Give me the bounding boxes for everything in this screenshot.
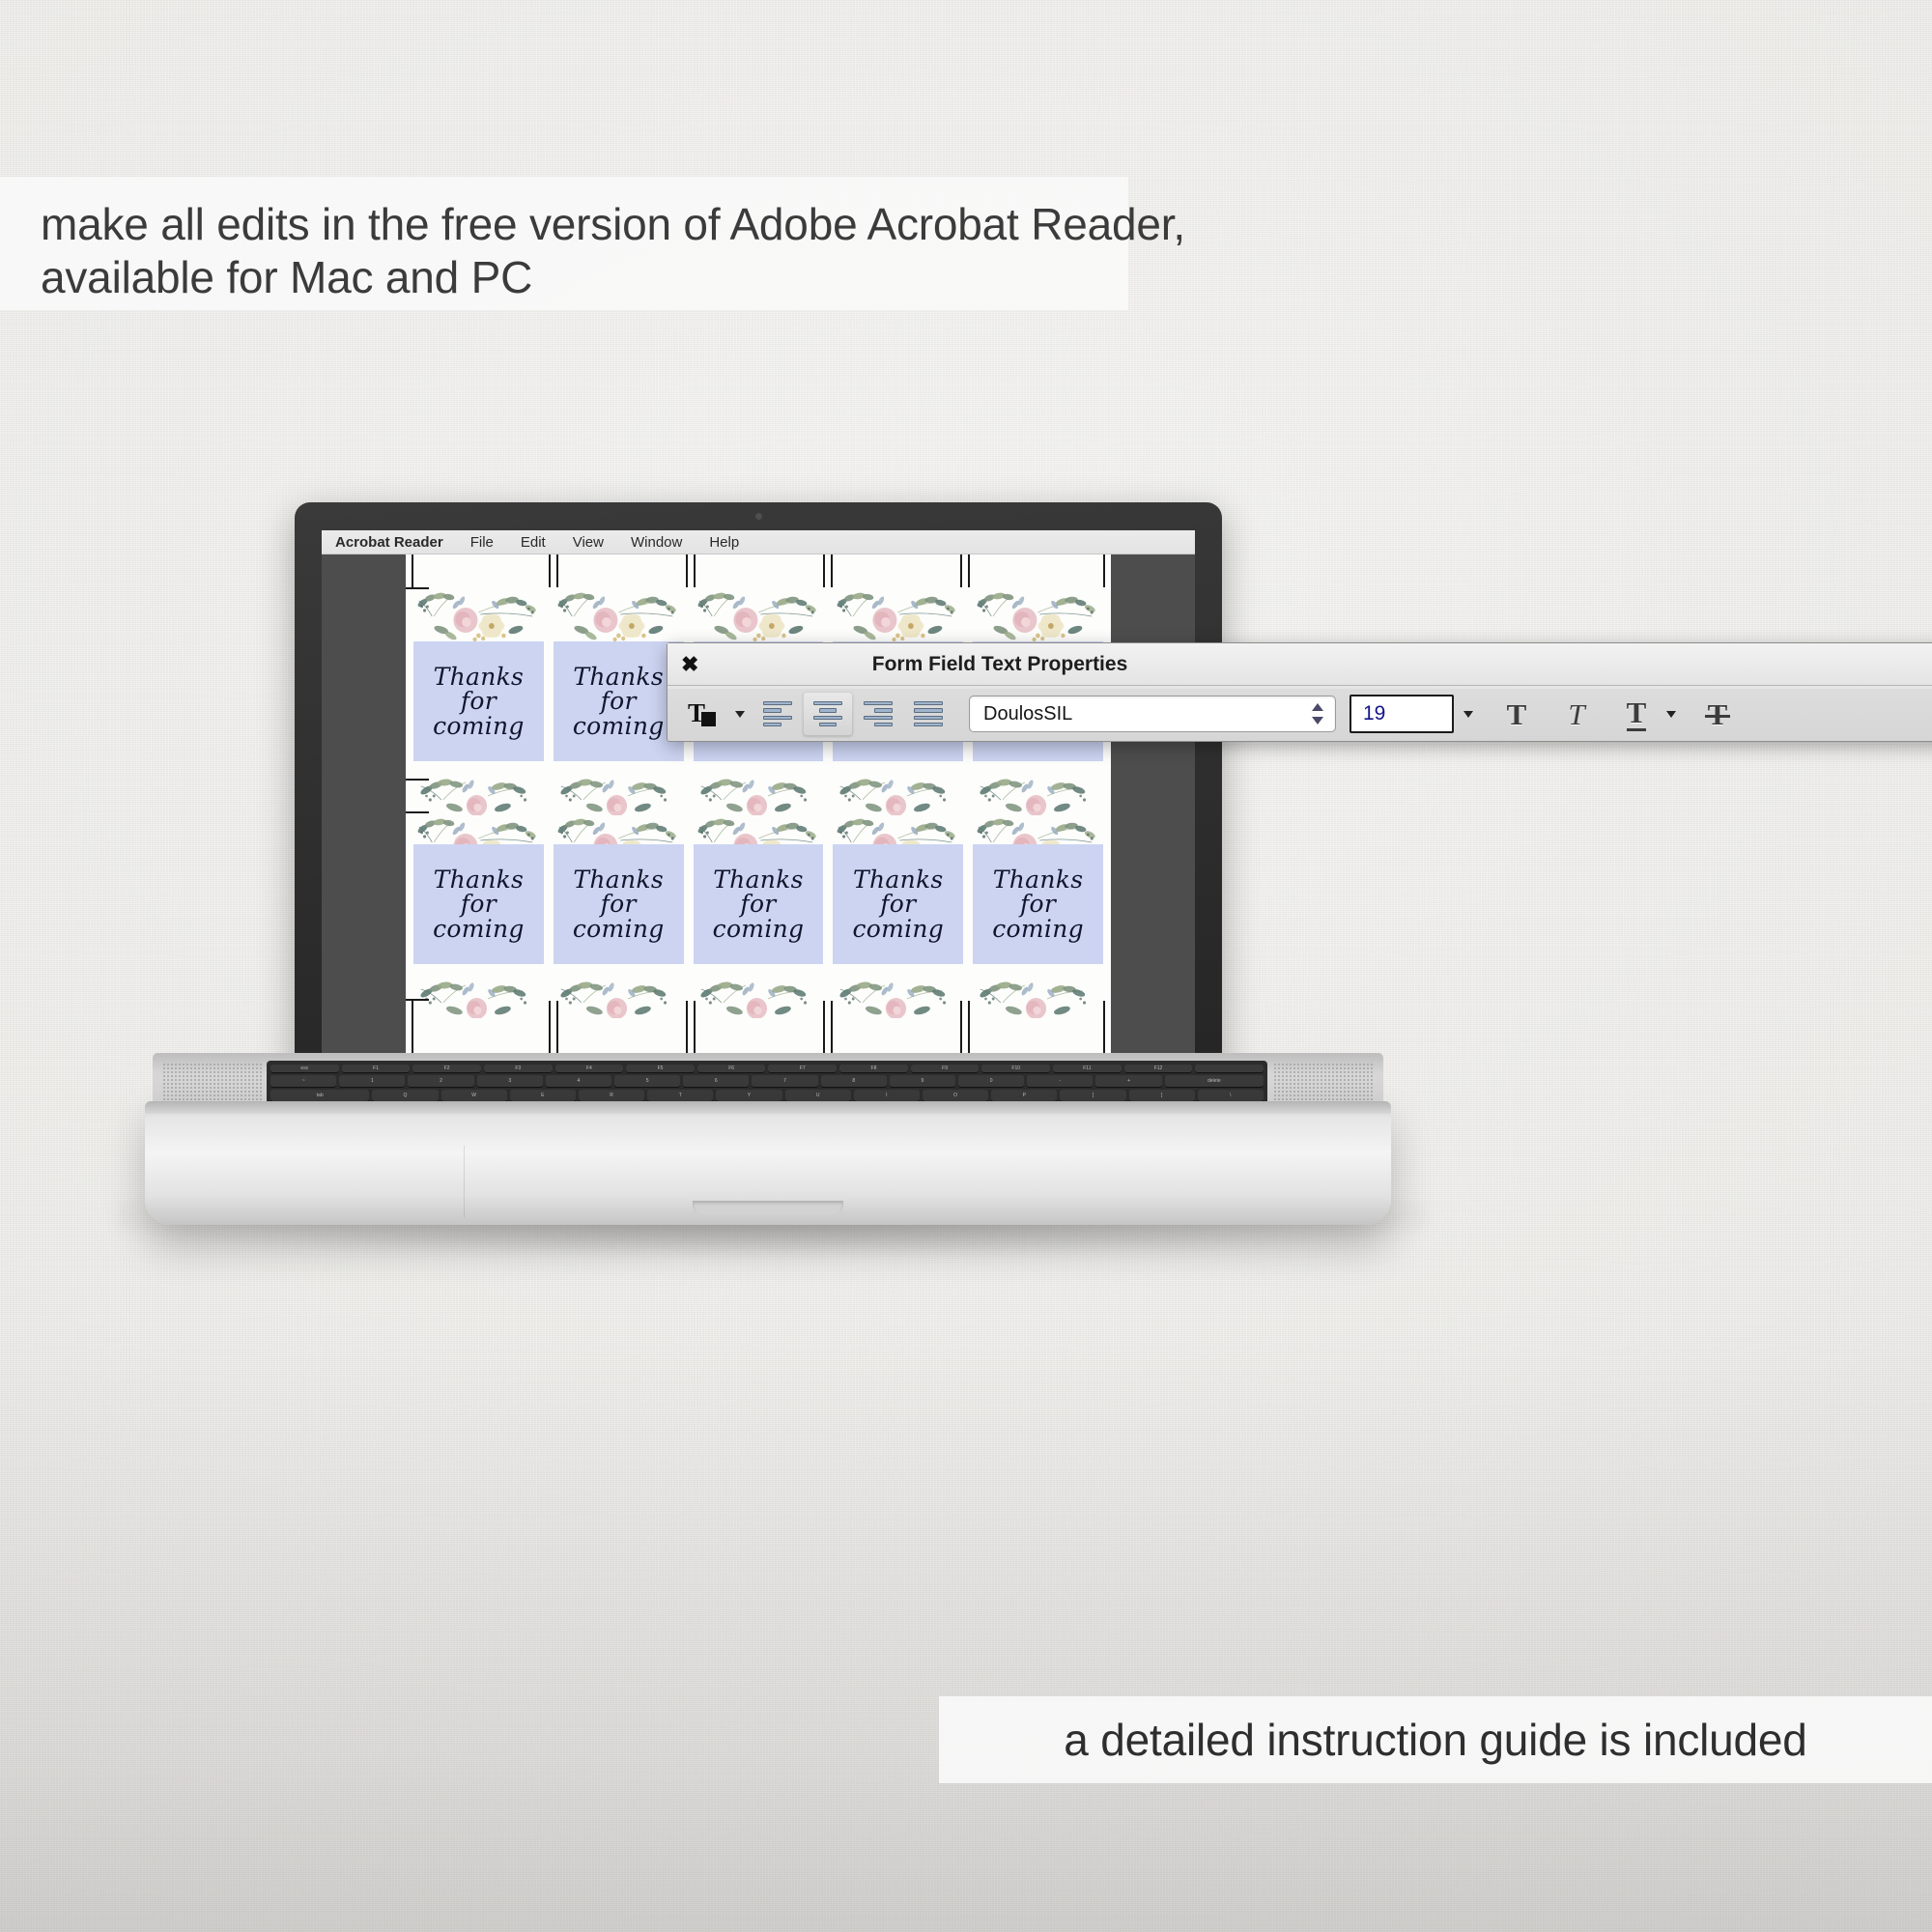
laptop-screen: Acrobat Reader File Edit View Window Hel… — [322, 530, 1195, 1069]
menu-item-view[interactable]: View — [559, 534, 617, 551]
keyboard-key[interactable]: esc — [270, 1065, 339, 1072]
floral-garland-icon — [694, 761, 824, 815]
floral-garland-icon — [973, 964, 1103, 1018]
top-caption-line-2: available for Mac and PC — [41, 251, 1128, 304]
menu-item-window[interactable]: Window — [617, 534, 696, 551]
text-color-icon: T — [688, 699, 717, 728]
keyboard-key[interactable]: U — [785, 1090, 851, 1101]
keyboard-key[interactable]: F4 — [555, 1065, 624, 1072]
tag-text-line-1: Thanks — [434, 867, 525, 893]
crop-mark-vertical — [412, 1001, 413, 1059]
keyboard-key[interactable]: F7 — [768, 1065, 837, 1072]
keyboard-key[interactable]: R — [579, 1090, 644, 1101]
floral-garland-icon — [694, 964, 824, 1018]
tag-cell[interactable]: Thanksforcoming — [554, 844, 684, 1018]
keyboard-row: tabQWERTYUIOP[]\ — [270, 1090, 1264, 1101]
crop-mark-vertical — [823, 1001, 825, 1059]
keyboard-key[interactable]: 7 — [752, 1075, 817, 1087]
keyboard-key[interactable]: F2 — [412, 1065, 481, 1072]
dialog-title: Form Field Text Properties — [668, 653, 1932, 676]
menu-item-file[interactable]: File — [457, 534, 507, 551]
floral-garland-icon — [554, 587, 684, 641]
bottom-caption-banner: a detailed instruction guide is included — [939, 1696, 1932, 1783]
floor-shadow — [0, 1333, 1932, 1932]
keyboard-key[interactable]: Y — [716, 1090, 781, 1101]
keyboard-row: ~1234567890-+delete — [270, 1075, 1264, 1087]
floral-garland-icon — [413, 964, 544, 1018]
crop-mark-vertical — [686, 554, 688, 587]
keyboard-key[interactable]: O — [923, 1090, 988, 1101]
keyboard-key[interactable]: ] — [1129, 1090, 1195, 1101]
keyboard-row: escF1F2F3F4F5F6F7F8F9F10F11F12 — [270, 1065, 1264, 1072]
tag-text-line-2: for — [461, 689, 497, 714]
crop-mark-vertical — [556, 1001, 558, 1059]
keyboard-key[interactable]: F5 — [626, 1065, 695, 1072]
crop-mark-vertical — [823, 554, 825, 587]
tag-text-line-3: coming — [713, 917, 805, 942]
tag-text-line-3: coming — [573, 714, 665, 739]
crop-mark-vertical — [960, 554, 962, 587]
keyboard-key[interactable]: - — [1027, 1075, 1093, 1087]
tag-text-line-2: for — [740, 892, 776, 917]
align-right-button[interactable] — [853, 692, 903, 736]
tag-cell[interactable]: Thanksforcoming — [694, 844, 824, 1018]
keyboard-key[interactable]: tab — [270, 1090, 369, 1101]
keyboard-key[interactable]: 5 — [614, 1075, 680, 1087]
form-field-text-properties-dialog[interactable]: ✖ Form Field Text Properties T DoulosSIL — [667, 642, 1932, 742]
chevron-down-icon — [735, 711, 745, 718]
strikethrough-icon: T — [1708, 699, 1728, 729]
thanks-for-coming-tag[interactable]: Thanksforcoming — [694, 844, 824, 964]
tag-text-line-3: coming — [852, 917, 944, 942]
keyboard-key[interactable]: \ — [1198, 1090, 1264, 1101]
text-color-button[interactable]: T — [677, 692, 727, 736]
crop-mark-vertical — [549, 554, 551, 587]
close-icon[interactable]: ✖ — [681, 654, 698, 675]
tag-text-line-3: coming — [573, 917, 665, 942]
align-justify-button[interactable] — [903, 692, 953, 736]
keyboard-key[interactable]: E — [510, 1090, 576, 1101]
keyboard-key[interactable]: + — [1095, 1075, 1161, 1087]
keyboard-key[interactable]: 9 — [890, 1075, 955, 1087]
tag-text-line-1: Thanks — [853, 867, 944, 893]
crop-mark-vertical — [1103, 1001, 1105, 1059]
thanks-for-coming-tag[interactable]: Thanksforcoming — [413, 844, 544, 964]
keyboard-key[interactable]: 3 — [477, 1075, 543, 1087]
keyboard-key[interactable]: delete — [1165, 1075, 1264, 1087]
crop-mark-vertical — [549, 1001, 551, 1059]
crop-mark-vertical — [686, 1001, 688, 1059]
keyboard-key[interactable]: W — [441, 1090, 507, 1101]
keyboard-key[interactable]: 6 — [683, 1075, 749, 1087]
keyboard-key[interactable]: F9 — [911, 1065, 980, 1072]
menu-item-edit[interactable]: Edit — [507, 534, 559, 551]
thanks-for-coming-tag[interactable]: Thanksforcoming — [833, 844, 963, 964]
bold-button[interactable]: T — [1487, 692, 1547, 736]
floral-garland-icon — [973, 761, 1103, 815]
crop-mark-horizontal — [406, 779, 429, 781]
crop-mark-vertical — [968, 1001, 970, 1059]
keyboard-key[interactable]: F10 — [981, 1065, 1050, 1072]
keyboard-key[interactable]: 2 — [408, 1075, 473, 1087]
keyboard-key[interactable]: P — [991, 1090, 1057, 1101]
underline-dropdown-icon[interactable] — [1666, 711, 1676, 718]
tag-text-line-3: coming — [433, 714, 525, 739]
floral-garland-icon — [554, 761, 684, 815]
laptop-mockup: Acrobat Reader File Edit View Window Hel… — [145, 502, 1391, 1265]
macos-menubar: Acrobat Reader File Edit View Window Hel… — [322, 530, 1195, 554]
floral-garland-icon — [694, 587, 824, 641]
align-left-button[interactable] — [753, 692, 803, 736]
crop-mark-vertical — [412, 554, 413, 587]
keyboard-key[interactable]: 8 — [821, 1075, 887, 1087]
font-family-select[interactable]: DoulosSIL — [969, 696, 1336, 732]
strikethrough-button[interactable]: T — [1688, 692, 1747, 736]
floral-garland-icon — [833, 587, 963, 641]
top-caption-line-1: make all edits in the free version of Ad… — [41, 198, 1128, 251]
tag-cell[interactable]: Thanksforcoming — [413, 844, 544, 1018]
webcam-icon — [755, 513, 762, 520]
align-center-icon — [813, 701, 842, 726]
tag-text-line-1: Thanks — [993, 867, 1084, 893]
tag-text-line-1: Thanks — [713, 867, 804, 893]
tag-text-line-2: for — [601, 892, 637, 917]
pdf-viewer-canvas[interactable]: ThanksforcomingThanksforcomingThanksforc… — [322, 554, 1195, 1069]
tag-text-line-1: Thanks — [573, 665, 664, 690]
stepper-icon[interactable] — [1312, 701, 1325, 726]
dialog-titlebar: ✖ Form Field Text Properties — [668, 643, 1932, 686]
keyboard-key[interactable]: Q — [372, 1090, 438, 1101]
keyboard-key[interactable]: [ — [1060, 1090, 1125, 1101]
tag-text-line-3: coming — [433, 917, 525, 942]
thanks-for-coming-tag[interactable]: Thanksforcoming — [973, 844, 1103, 964]
align-left-icon — [763, 701, 792, 726]
floral-garland-icon — [833, 964, 963, 1018]
keyboard-key[interactable] — [1195, 1065, 1264, 1072]
tag-text-line-3: coming — [992, 917, 1084, 942]
tag-cell[interactable]: Thanksforcoming — [413, 587, 544, 815]
crop-mark-horizontal — [406, 999, 429, 1001]
underline-button[interactable]: T — [1606, 692, 1666, 736]
floral-garland-icon — [413, 587, 544, 641]
bold-icon: T — [1507, 699, 1527, 729]
crop-mark-vertical — [694, 554, 696, 587]
dialog-toolbar-row: T DoulosSIL 19 T — [668, 686, 1932, 742]
base-notch — [693, 1201, 843, 1215]
laptop-lid: Acrobat Reader File Edit View Window Hel… — [295, 502, 1222, 1125]
keyboard-key[interactable]: T — [647, 1090, 713, 1101]
tag-text-line-2: for — [1020, 892, 1056, 917]
crop-mark-vertical — [694, 1001, 696, 1059]
crop-mark-vertical — [831, 1001, 833, 1059]
crop-mark-vertical — [960, 1001, 962, 1059]
floral-garland-icon — [554, 964, 684, 1018]
underline-icon: T — [1627, 697, 1647, 731]
keyboard-key[interactable]: 1 — [339, 1075, 405, 1087]
bottom-caption-text: a detailed instruction guide is included — [1064, 1714, 1806, 1766]
keyboard-key[interactable]: F1 — [342, 1065, 411, 1072]
crop-mark-vertical — [556, 554, 558, 587]
crop-mark-horizontal — [406, 811, 429, 813]
tag-text-line-2: for — [601, 689, 637, 714]
tag-cell[interactable]: Thanksforcoming — [554, 587, 684, 815]
keyboard-key[interactable]: F11 — [1053, 1065, 1122, 1072]
crop-mark-vertical — [831, 554, 833, 587]
crop-mark-vertical — [968, 554, 970, 587]
italic-button[interactable]: T — [1547, 692, 1606, 736]
tag-text-line-1: Thanks — [434, 665, 525, 690]
menu-item-acrobat-reader[interactable]: Acrobat Reader — [335, 534, 457, 551]
tag-row-2: ThanksforcomingThanksforcomingThanksforc… — [413, 844, 1103, 1018]
tag-text-line-2: for — [461, 892, 497, 917]
keyboard-key[interactable]: F3 — [484, 1065, 553, 1072]
keyboard-key[interactable]: ~ — [270, 1075, 336, 1087]
text-color-dropdown-button[interactable] — [727, 692, 753, 736]
align-justify-icon — [914, 701, 943, 726]
tag-cell[interactable]: Thanksforcoming — [833, 844, 963, 1018]
font-size-value: 19 — [1363, 702, 1385, 725]
floral-garland-icon — [413, 761, 544, 815]
keyboard-key[interactable]: F12 — [1124, 1065, 1193, 1072]
font-size-input[interactable]: 19 — [1350, 695, 1454, 733]
trackpad-edge[interactable] — [464, 1146, 465, 1217]
keyboard-key[interactable]: 0 — [958, 1075, 1024, 1087]
tag-text-line-2: for — [880, 892, 916, 917]
font-family-value: DoulosSIL — [983, 703, 1308, 725]
italic-icon: T — [1568, 699, 1584, 729]
pdf-page[interactable]: ThanksforcomingThanksforcomingThanksforc… — [406, 554, 1111, 1069]
keyboard-key[interactable]: 4 — [546, 1075, 611, 1087]
floral-garland-icon — [973, 587, 1103, 641]
top-caption-banner: make all edits in the free version of Ad… — [0, 177, 1128, 310]
thanks-for-coming-tag[interactable]: Thanksforcoming — [554, 844, 684, 964]
align-right-icon — [864, 701, 893, 726]
keyboard-key[interactable]: F6 — [697, 1065, 766, 1072]
font-size-dropdown-icon[interactable] — [1463, 711, 1473, 718]
laptop-base — [145, 1101, 1391, 1225]
base-lip — [145, 1101, 1391, 1114]
keyboard-key[interactable]: F8 — [839, 1065, 908, 1072]
thanks-for-coming-tag[interactable]: Thanksforcoming — [554, 641, 684, 761]
thanks-for-coming-tag[interactable]: Thanksforcoming — [413, 641, 544, 761]
menu-item-help[interactable]: Help — [696, 534, 753, 551]
align-center-button[interactable] — [803, 692, 853, 736]
tag-text-line-1: Thanks — [573, 867, 664, 893]
keyboard-key[interactable]: I — [854, 1090, 920, 1101]
tag-cell[interactable]: Thanksforcoming — [973, 844, 1103, 1018]
floral-garland-icon — [833, 761, 963, 815]
crop-mark-vertical — [1103, 554, 1105, 587]
